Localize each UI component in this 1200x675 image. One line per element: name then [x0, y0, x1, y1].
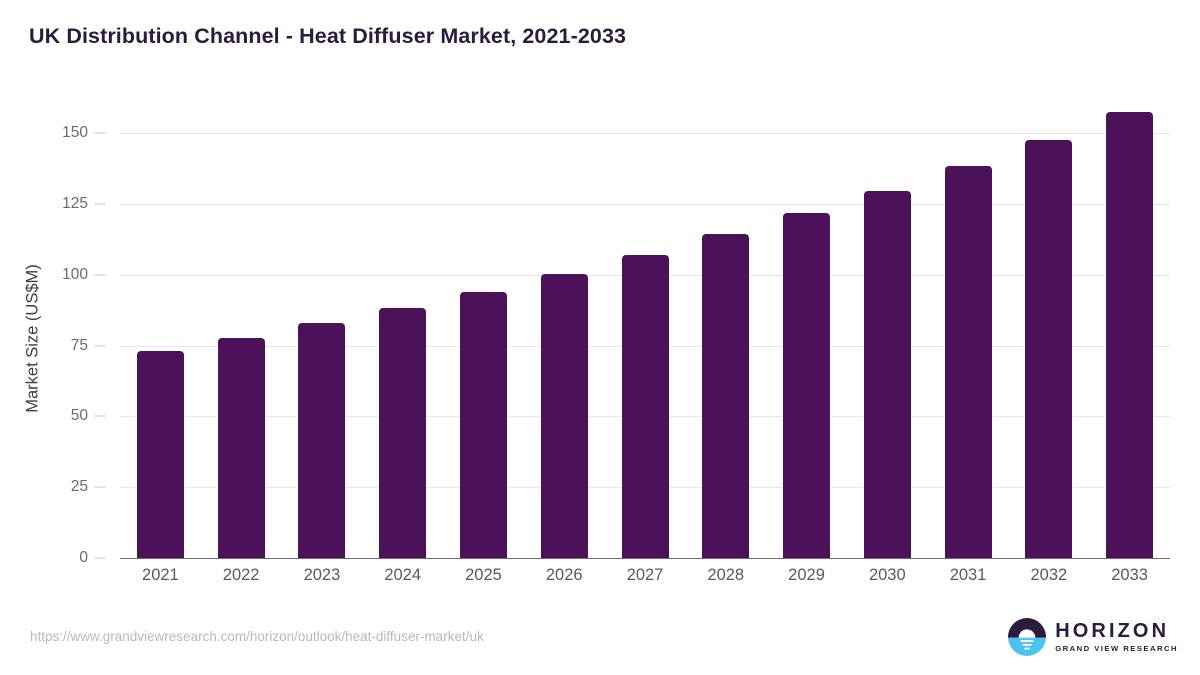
y-tick-label: 125	[62, 195, 88, 213]
bar-group[interactable]	[460, 100, 507, 558]
logo-wordmark: HORIZON	[1055, 621, 1178, 641]
y-tick-mark	[94, 416, 106, 417]
y-tick-mark	[94, 487, 106, 488]
chart-card: UK Distribution Channel - Heat Diffuser …	[0, 0, 1200, 675]
y-tick-label: 150	[62, 124, 88, 142]
y-axis-title: Market Size (US$M)	[24, 139, 43, 539]
x-axis: 2021202220232024202520262027202820292030…	[120, 566, 1170, 596]
y-tick-mark	[94, 345, 106, 346]
bar[interactable]	[218, 338, 265, 558]
bar-group[interactable]	[783, 100, 830, 558]
bar[interactable]	[945, 166, 992, 558]
bar-group[interactable]	[218, 100, 265, 558]
horizon-logo: HORIZON GRAND VIEW RESEARCH	[1008, 618, 1178, 656]
x-tick-label: 2026	[546, 566, 583, 585]
bar[interactable]	[783, 213, 830, 558]
bar[interactable]	[1025, 140, 1072, 558]
x-tick-label: 2025	[465, 566, 502, 585]
bar-group[interactable]	[298, 100, 345, 558]
x-tick-label: 2023	[304, 566, 341, 585]
y-tick-label: 0	[79, 549, 88, 567]
x-tick-label: 2028	[707, 566, 744, 585]
y-tick-label: 25	[71, 478, 88, 496]
y-tick-mark	[94, 558, 106, 559]
bar-group[interactable]	[864, 100, 911, 558]
bar-group[interactable]	[137, 100, 184, 558]
bar[interactable]	[541, 274, 588, 558]
logo-tagline: GRAND VIEW RESEARCH	[1055, 645, 1178, 653]
axis-baseline	[120, 558, 1170, 559]
x-tick-label: 2029	[788, 566, 825, 585]
bar[interactable]	[379, 308, 426, 558]
x-tick-label: 2022	[223, 566, 260, 585]
bar[interactable]	[460, 292, 507, 558]
bar-group[interactable]	[1106, 100, 1153, 558]
horizon-logo-icon	[1008, 618, 1046, 656]
bar-group[interactable]	[1025, 100, 1072, 558]
bar[interactable]	[864, 191, 911, 558]
bar[interactable]	[702, 234, 749, 558]
x-tick-label: 2031	[950, 566, 987, 585]
bar-group[interactable]	[622, 100, 669, 558]
bar[interactable]	[622, 255, 669, 558]
y-tick-label: 75	[71, 337, 88, 355]
x-tick-label: 2032	[1030, 566, 1067, 585]
bar-group[interactable]	[379, 100, 426, 558]
y-axis: 0255075100125150	[0, 0, 120, 675]
y-tick-mark	[94, 133, 106, 134]
bar-group[interactable]	[541, 100, 588, 558]
x-tick-label: 2030	[869, 566, 906, 585]
x-tick-label: 2033	[1111, 566, 1148, 585]
bar[interactable]	[137, 351, 184, 558]
bar[interactable]	[298, 323, 345, 558]
bars-layer	[120, 100, 1170, 558]
y-tick-label: 100	[62, 266, 88, 284]
bar[interactable]	[1106, 112, 1153, 558]
x-tick-label: 2021	[142, 566, 179, 585]
source-url[interactable]: https://www.grandviewresearch.com/horizo…	[30, 629, 484, 644]
bar-group[interactable]	[945, 100, 992, 558]
y-tick-mark	[94, 274, 106, 275]
y-tick-mark	[94, 203, 106, 204]
horizon-logo-text: HORIZON GRAND VIEW RESEARCH	[1055, 621, 1178, 653]
x-tick-label: 2024	[384, 566, 421, 585]
y-tick-label: 50	[71, 407, 88, 425]
bar-group[interactable]	[702, 100, 749, 558]
x-tick-label: 2027	[627, 566, 664, 585]
